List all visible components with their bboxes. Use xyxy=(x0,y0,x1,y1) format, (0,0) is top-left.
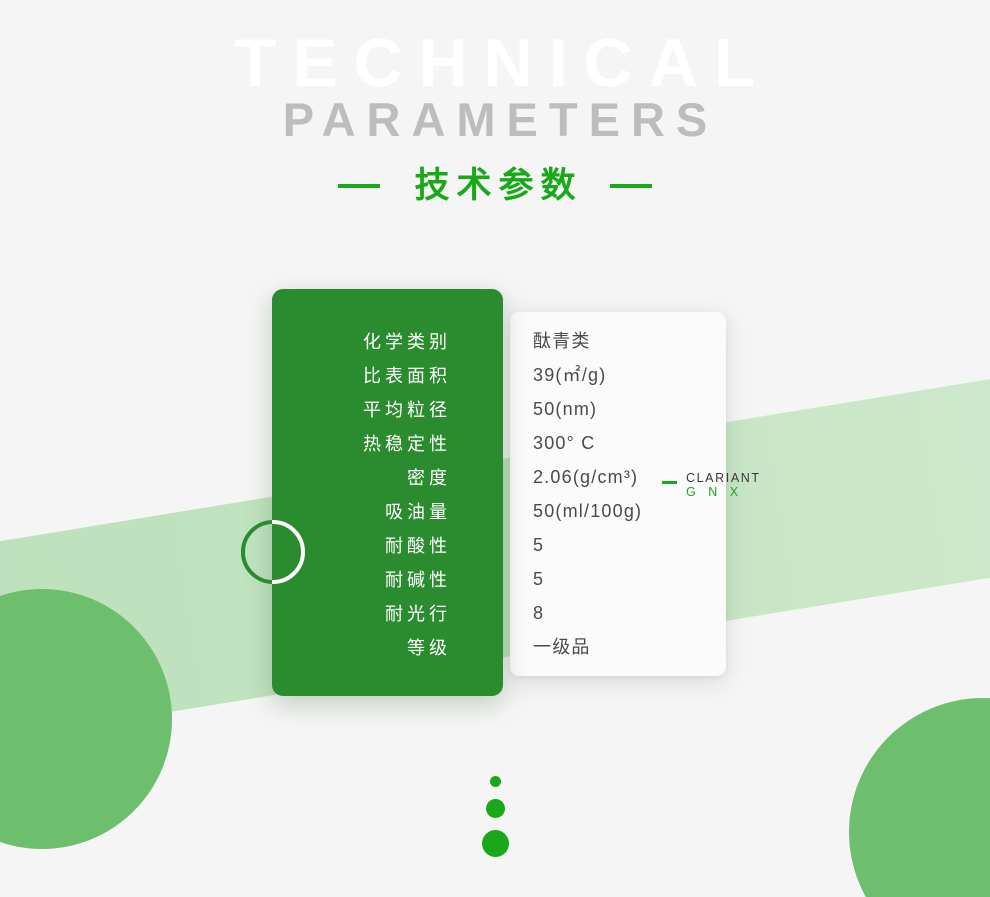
dash-left-icon xyxy=(338,184,380,188)
spec-label-column: 化学类别 比表面积 平均粒径 热稳定性 密度 吸油量 耐酸性 耐碱性 耐光行 等… xyxy=(283,325,451,665)
spec-label: 耐碱性 xyxy=(283,563,451,597)
spec-value: 300° C xyxy=(533,426,733,460)
brand-dash-icon xyxy=(662,481,677,484)
spec-label: 平均粒径 xyxy=(283,393,451,427)
spec-value: 8 xyxy=(533,596,733,630)
spec-value: 39(㎡/g) xyxy=(533,358,733,392)
subtitle-chinese: 技术参数 xyxy=(407,166,582,206)
spec-value: 50(ml/100g) xyxy=(533,494,733,528)
spec-value: 酞青类 xyxy=(533,324,733,358)
subtitle-row: 技术参数 xyxy=(0,166,990,206)
spec-label: 比表面积 xyxy=(283,359,451,393)
spec-label: 吸油量 xyxy=(283,495,451,529)
brand-annotation: CLARIANT G N X xyxy=(662,472,761,499)
decor-dot-medium xyxy=(486,799,505,818)
brand-text-group: CLARIANT G N X xyxy=(686,472,761,499)
spec-value: 5 xyxy=(533,562,733,596)
title-parameters: PARAMETERS xyxy=(0,96,990,143)
spec-value: 5 xyxy=(533,528,733,562)
spec-label: 密度 xyxy=(283,461,451,495)
spec-value: 50(nm) xyxy=(533,392,733,426)
spec-value: 一级品 xyxy=(533,630,733,664)
decor-dot-group xyxy=(0,776,990,857)
dash-right-icon xyxy=(610,184,652,188)
decor-dot-large xyxy=(482,830,509,857)
title-technical: TECHNICAL xyxy=(0,29,990,97)
spec-label: 等级 xyxy=(283,631,451,665)
decor-dot-small xyxy=(490,776,501,787)
brand-code: G N X xyxy=(686,486,761,500)
spec-label: 耐酸性 xyxy=(283,529,451,563)
spec-label: 化学类别 xyxy=(283,325,451,359)
spec-label: 热稳定性 xyxy=(283,427,451,461)
spec-label: 耐光行 xyxy=(283,597,451,631)
brand-name: CLARIANT xyxy=(686,472,761,486)
page-root: TECHNICAL PARAMETERS 技术参数 化学类别 比表面积 平均粒径… xyxy=(0,0,990,897)
